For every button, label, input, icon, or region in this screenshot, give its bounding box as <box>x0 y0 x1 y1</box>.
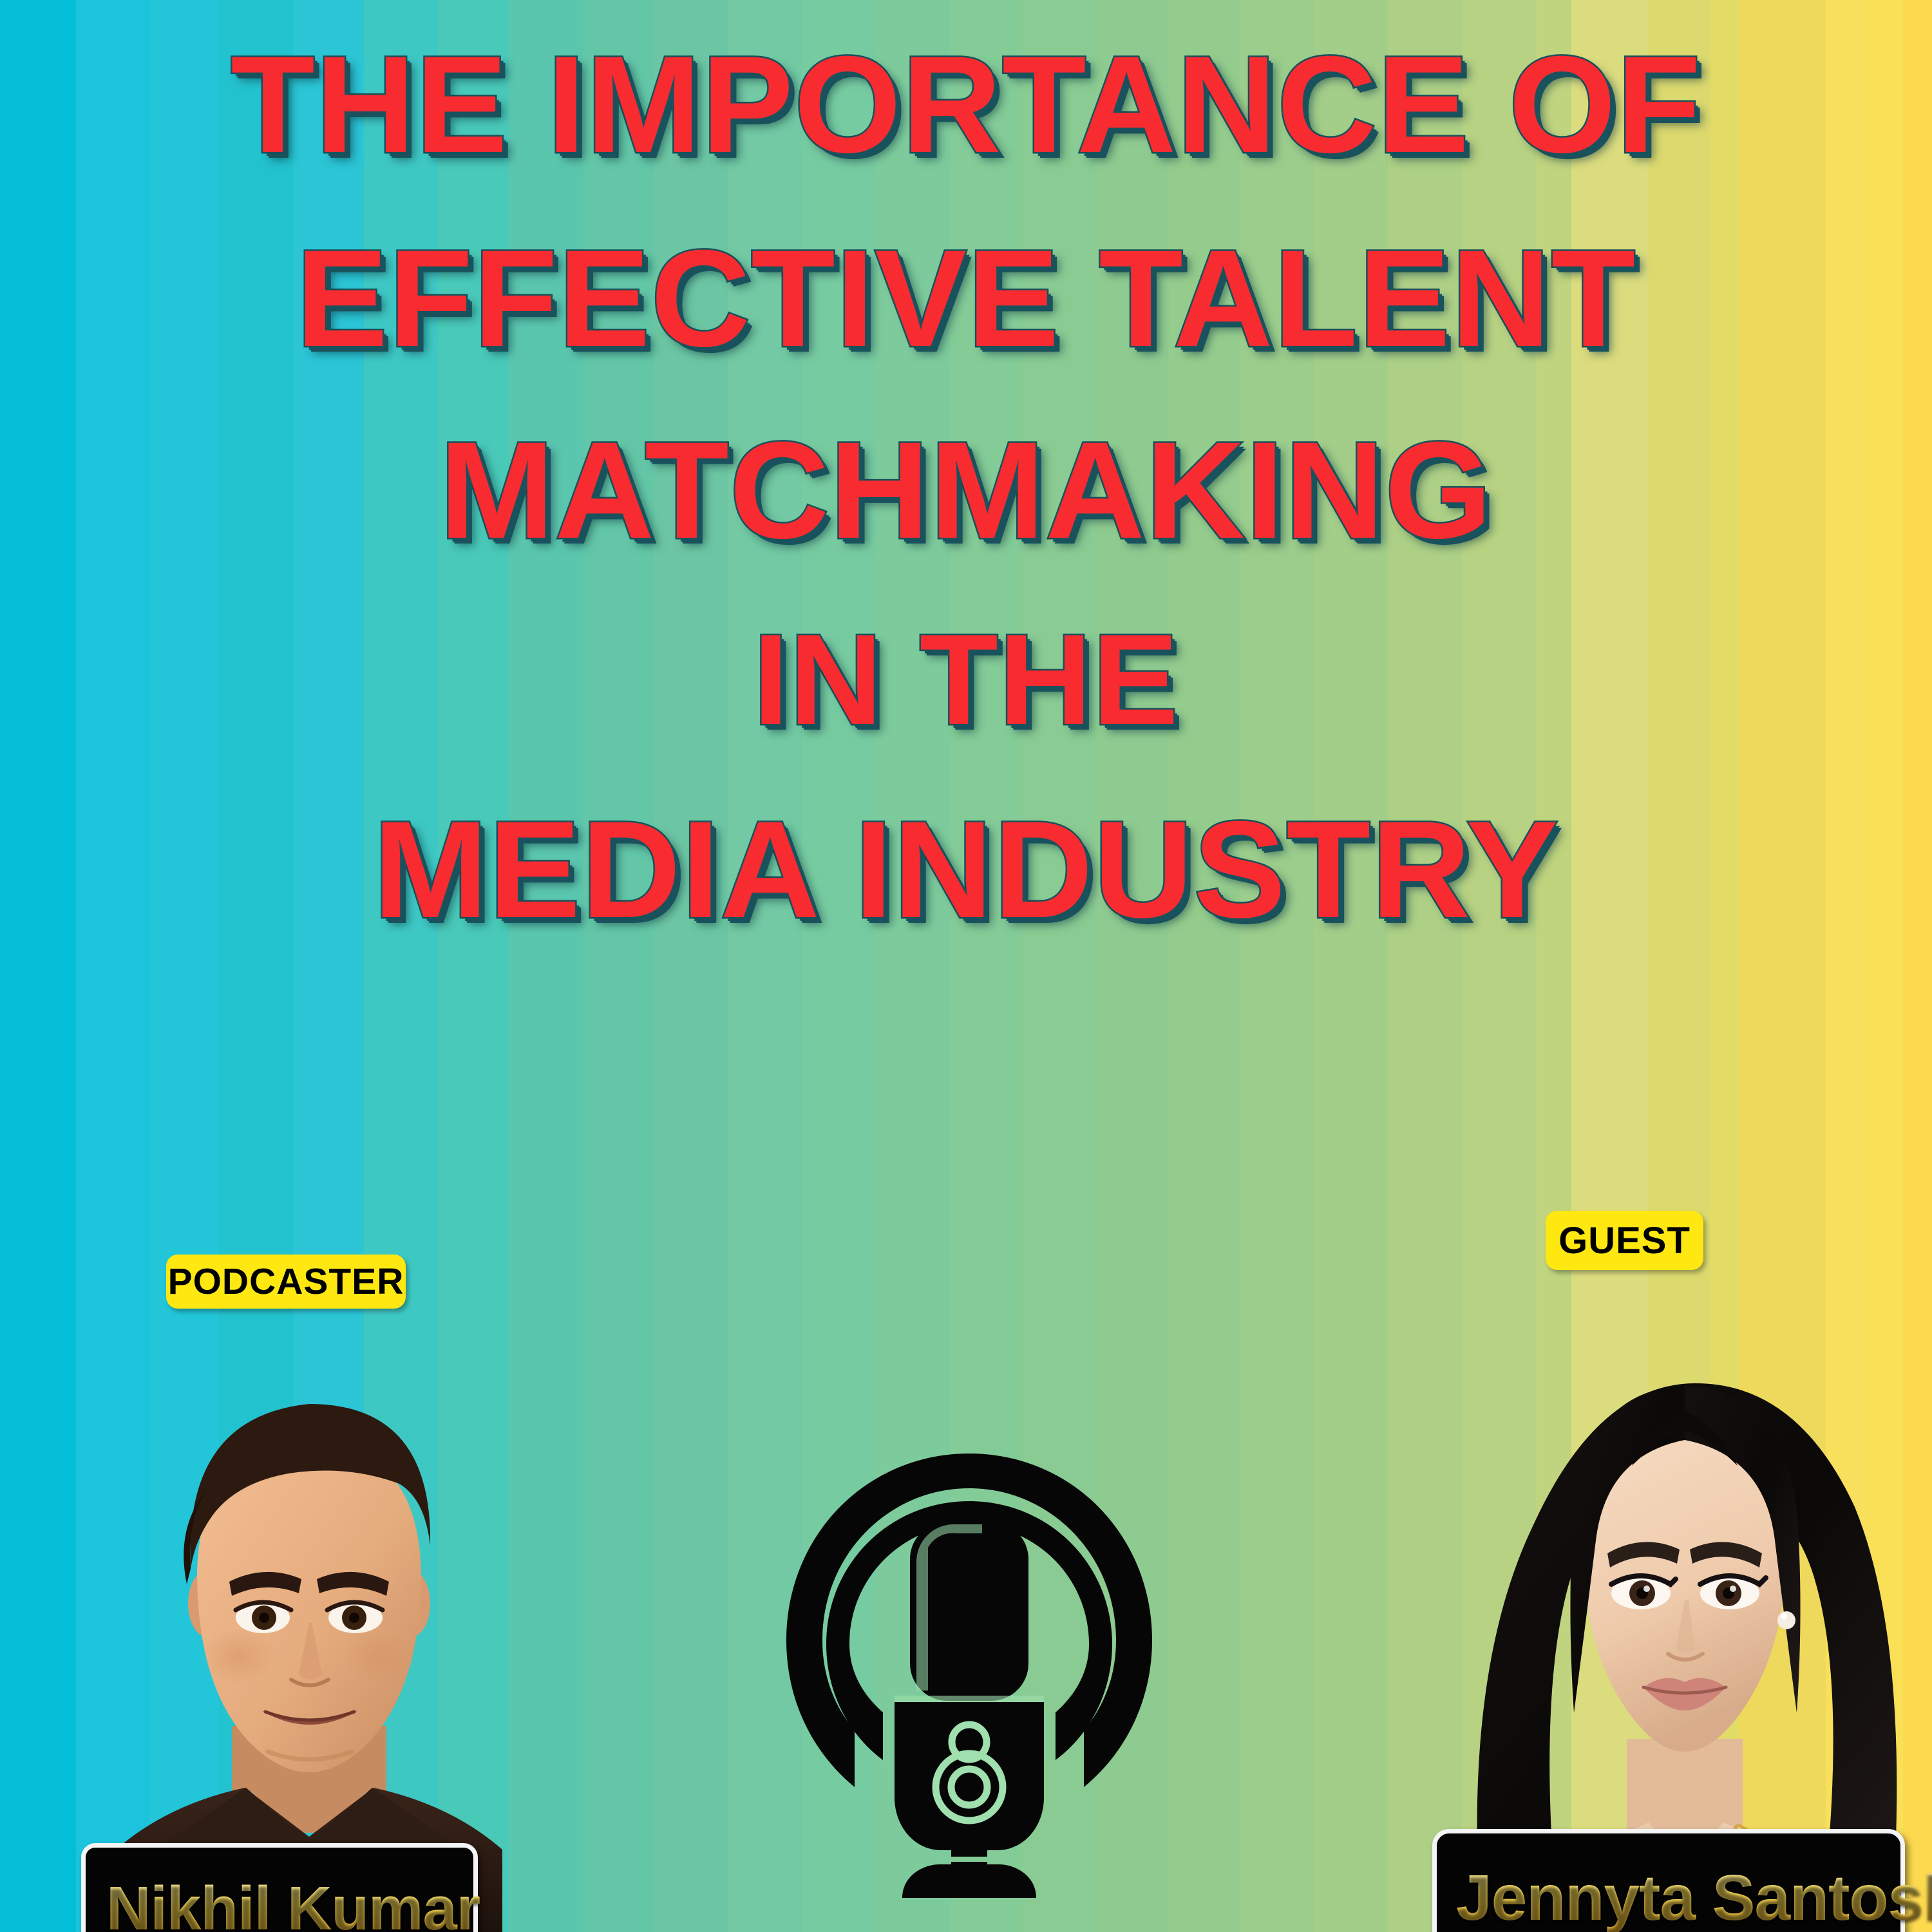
nameplate-guest: Jennyta Santosh <box>1432 1829 1905 1932</box>
podcast-cover: THE IMPORTANCE OF EFFECTIVE TALENT MATCH… <box>0 0 1932 1932</box>
badge-guest: GUEST <box>1546 1211 1703 1270</box>
podcast-microphone-icon <box>763 1439 1175 1903</box>
nameplate-podcaster: Nikhil Kumar <box>81 1843 478 1932</box>
guest-name: Jennyta Santosh <box>1456 1861 1932 1932</box>
badge-podcaster: PODCASTER <box>166 1255 406 1309</box>
podcaster-name: Nikhil Kumar <box>106 1873 480 1932</box>
avatar-podcaster <box>39 1327 580 1932</box>
